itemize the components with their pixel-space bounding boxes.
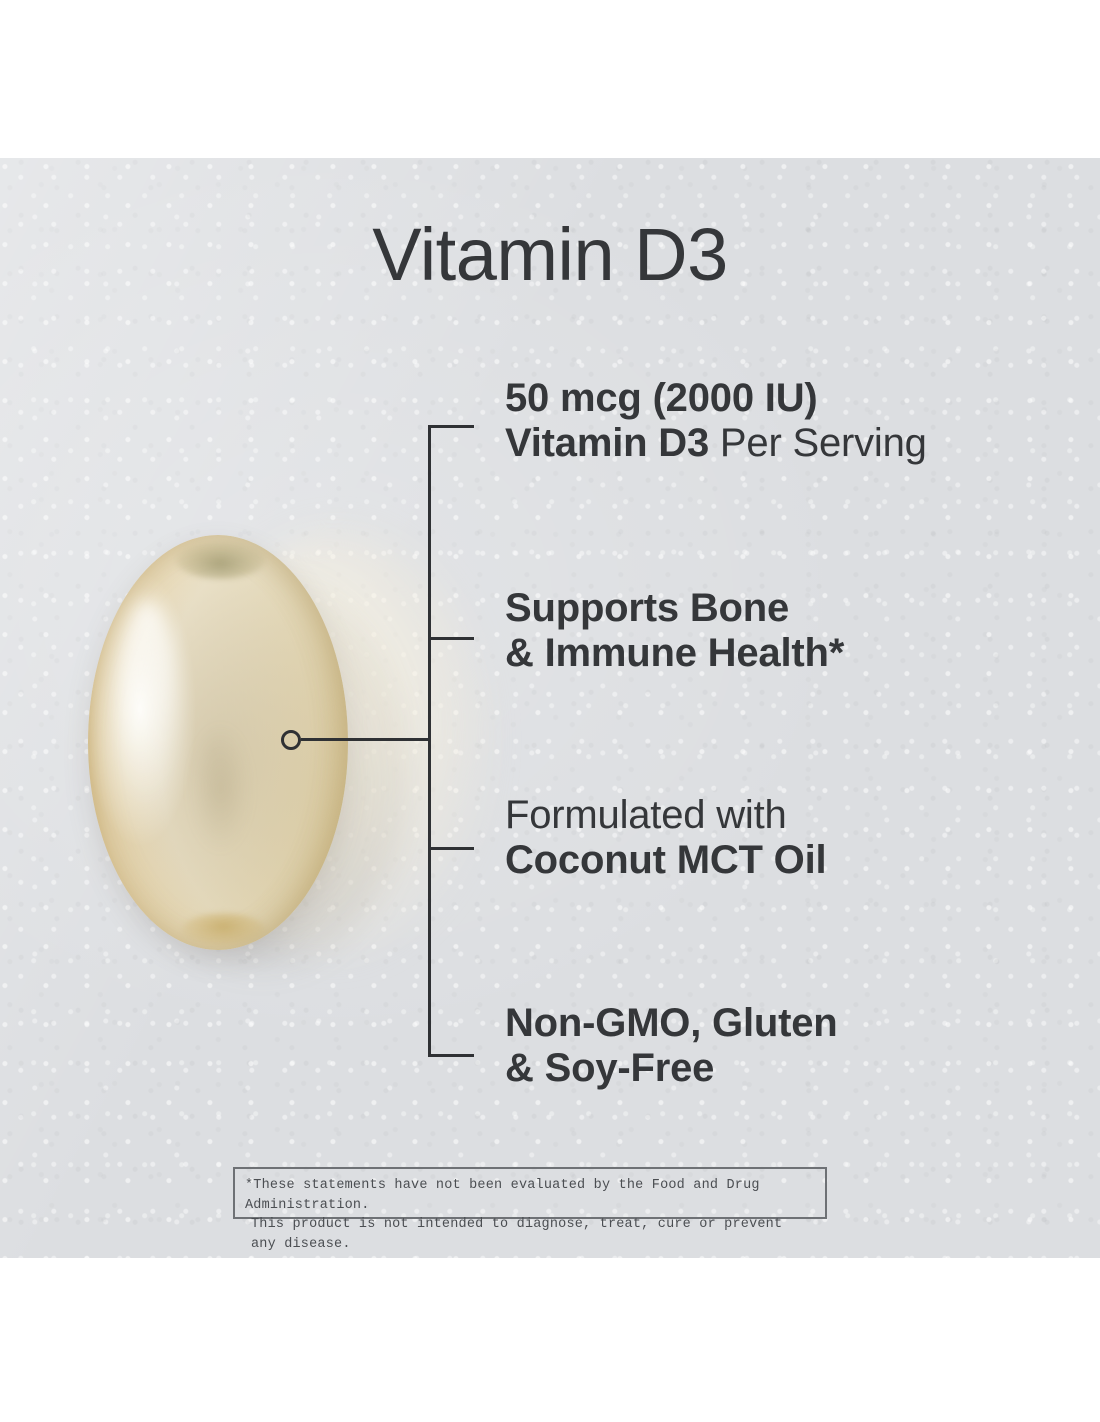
capsule-body <box>88 535 348 950</box>
product-infographic: Vitamin D3 50 mcg (2000 IU) Vitamin D3 P… <box>0 0 1100 1422</box>
capsule-seam-top <box>176 541 264 578</box>
disclaimer-line-1: *These statements have not been evaluate… <box>245 1176 815 1215</box>
benefit-item-health-support: Supports Bone & Immune Health* <box>505 586 1065 676</box>
bracket-spine <box>428 425 431 1057</box>
benefit-line-2: Coconut MCT Oil <box>505 838 1065 883</box>
bracket-tick-1 <box>428 425 474 428</box>
benefit-line-2: & Immune Health* <box>505 631 1065 676</box>
benefit-line-1: 50 mcg (2000 IU) <box>505 376 1065 421</box>
capsule-inner-shading <box>192 726 249 851</box>
capsule-callout-marker <box>281 730 301 750</box>
bracket-tick-3 <box>428 847 474 850</box>
bracket-tick-2 <box>428 637 474 640</box>
capsule-seam-bottom <box>182 913 265 946</box>
benefit-item-dosage: 50 mcg (2000 IU) Vitamin D3 Per Serving <box>505 376 1065 466</box>
benefit-line-2: & Soy-Free <box>505 1046 1065 1091</box>
benefit-item-certifications: Non-GMO, Gluten & Soy-Free <box>505 1001 1065 1091</box>
capsule-highlight <box>119 601 176 809</box>
benefit-item-formulation: Formulated with Coconut MCT Oil <box>505 793 1065 883</box>
benefit-line-1: Formulated with <box>505 793 1065 838</box>
fda-disclaimer: *These statements have not been evaluate… <box>233 1167 827 1219</box>
callout-leader-line <box>301 738 430 741</box>
benefit-line-1: Non-GMO, Gluten <box>505 1001 1065 1046</box>
benefit-line-1: Supports Bone <box>505 586 1065 631</box>
bracket-tick-4 <box>428 1054 474 1057</box>
vitamin-d3-softgel-capsule <box>40 500 500 1000</box>
benefit-line-2: Vitamin D3 Per Serving <box>505 421 1065 466</box>
disclaimer-line-2: This product is not intended to diagnose… <box>245 1215 815 1254</box>
page-title: Vitamin D3 <box>0 218 1100 292</box>
